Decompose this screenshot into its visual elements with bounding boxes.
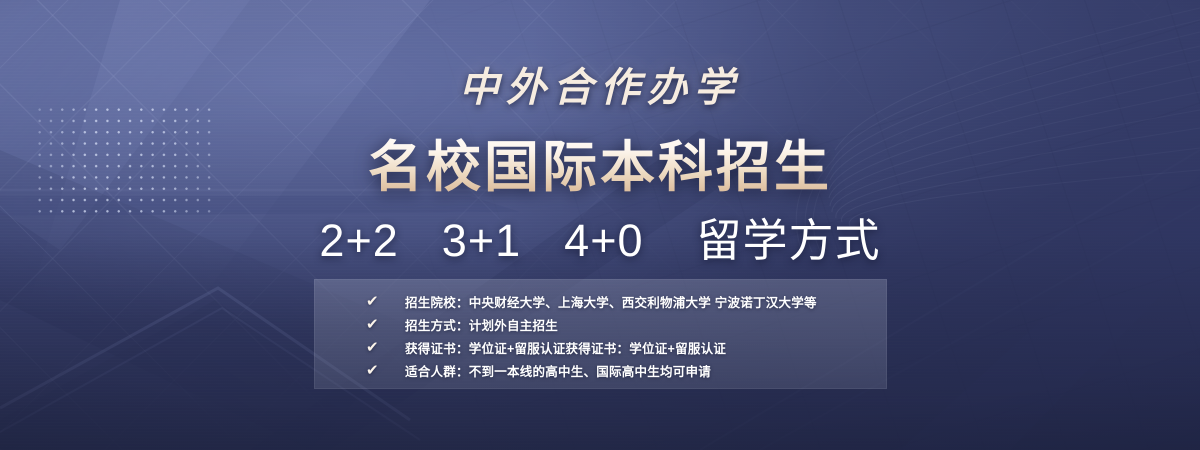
list-item: ✔获得证书：学位证+留服认证获得证书：学位证+留服认证: [314, 336, 887, 359]
list-item: ✔招生方式：计划外自主招生: [314, 313, 887, 336]
list-item-label: 适合人群：不到一本线的高中生、国际高中生均可申请: [405, 361, 711, 380]
study-mode-line: 2+2 3+1 4+0 留学方式: [0, 204, 1200, 269]
check-icon: ✔: [366, 340, 383, 355]
mode-option-2: 3+1: [442, 215, 521, 266]
banner-content: 中外合作办学 名校国际本科招生 2+2 3+1 4+0 留学方式 ✔招生院校：中…: [0, 0, 1200, 450]
promo-banner: 中外合作办学 名校国际本科招生 2+2 3+1 4+0 留学方式 ✔招生院校：中…: [0, 0, 1200, 450]
mode-option-3: 4+0: [564, 215, 643, 266]
highlights-panel: ✔招生院校：中央财经大学、上海大学、西交利物浦大学 宁波诺丁汉大学等✔招生方式：…: [314, 279, 887, 389]
list-item: ✔招生院校：中央财经大学、上海大学、西交利物浦大学 宁波诺丁汉大学等: [314, 290, 887, 313]
check-icon: ✔: [366, 317, 383, 332]
list-item: ✔适合人群：不到一本线的高中生、国际高中生均可申请: [314, 359, 887, 382]
mode-option-1: 2+2: [319, 215, 398, 266]
highlights-list: ✔招生院校：中央财经大学、上海大学、西交利物浦大学 宁波诺丁汉大学等✔招生方式：…: [314, 279, 887, 389]
main-headline: 名校国际本科招生: [0, 122, 1200, 202]
list-item-label: 招生院校：中央财经大学、上海大学、西交利物浦大学 宁波诺丁汉大学等: [405, 292, 817, 311]
mode-suffix: 留学方式: [697, 215, 881, 266]
check-icon: ✔: [366, 294, 383, 309]
brush-headline: 中外合作办学: [0, 55, 1200, 113]
list-item-label: 获得证书：学位证+留服认证获得证书：学位证+留服认证: [405, 338, 726, 357]
check-icon: ✔: [366, 363, 383, 378]
list-item-label: 招生方式：计划外自主招生: [405, 315, 558, 334]
